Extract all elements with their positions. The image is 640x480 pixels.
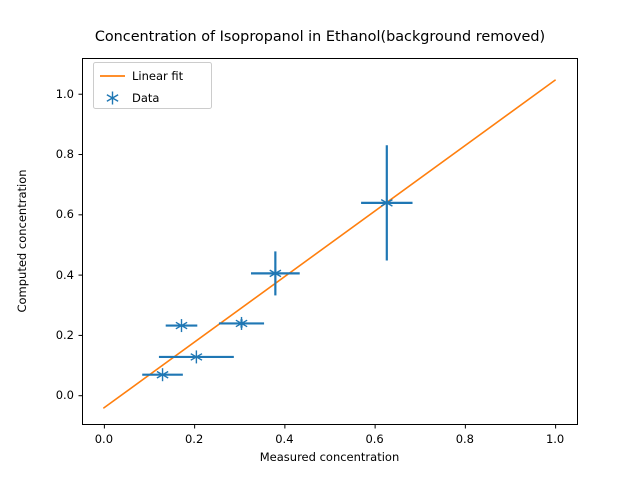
x-tick-label: 0.2 <box>185 432 203 446</box>
y-tick-label: 0.8 <box>36 147 74 161</box>
x-tick-label: 0.0 <box>95 432 113 446</box>
y-axis-label: Computed concentration <box>15 169 29 312</box>
y-tick-label: 0.4 <box>36 268 74 282</box>
y-tick-label: 0.0 <box>36 388 74 402</box>
y-tick-label: 0.6 <box>36 207 74 221</box>
x-tick-label: 0.8 <box>456 432 474 446</box>
x-tick-label: 0.4 <box>275 432 293 446</box>
x-tick-label: 0.6 <box>365 432 383 446</box>
plot-canvas <box>0 0 640 480</box>
legend-label-linear-fit: Linear fit <box>132 69 183 83</box>
matplotlib-figure: Concentration of Isopropanol in Ethanol(… <box>0 0 640 480</box>
x-axis-label: Measured concentration <box>82 450 577 464</box>
y-tick-label: 0.2 <box>36 328 74 342</box>
y-tick-label: 1.0 <box>36 87 74 101</box>
legend-label-data: Data <box>132 91 159 105</box>
x-tick-label: 1.0 <box>546 432 564 446</box>
